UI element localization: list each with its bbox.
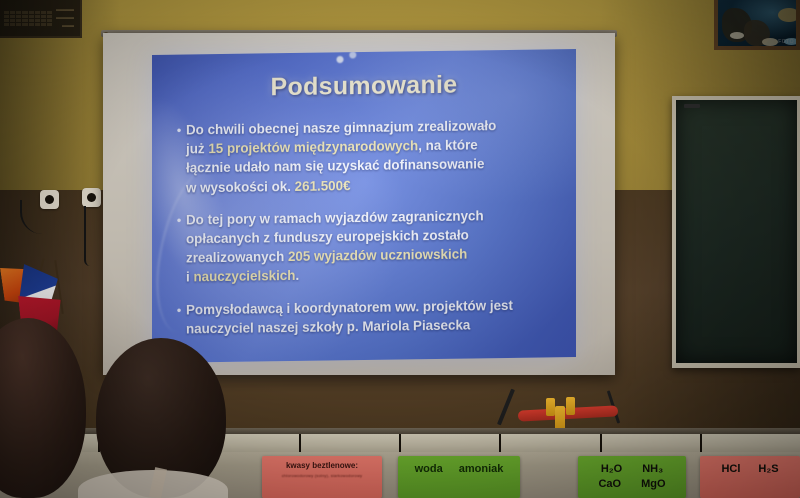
slide-bullet: •Pomysłodawcą i koordynatorem ww. projek… xyxy=(172,295,562,339)
slide-bullet-text: Do chwili obecnej nasze gimnazjum zreali… xyxy=(186,115,562,197)
clamp-knob-1 xyxy=(546,398,555,416)
slide-title: Podsumowanie xyxy=(152,69,576,104)
chalkboard xyxy=(672,96,800,368)
clamp-knob-2 xyxy=(566,397,575,415)
slide-text-highlight: 15 projektów międzynarodowych xyxy=(208,138,418,156)
slide-text: Pomysłodawcą i koordynatorem ww. projekt… xyxy=(186,298,513,318)
chem-poster-title: kwasy beztlenowe: xyxy=(286,461,358,470)
slide-bullet: •Do chwili obecnej nasze gimnazjum zreal… xyxy=(172,115,562,197)
slide-decor-dots xyxy=(328,49,368,68)
bullet-marker-icon: • xyxy=(172,120,186,197)
chem-formula-mgo: MgO xyxy=(641,478,665,490)
bullet-marker-icon: • xyxy=(172,300,186,339)
chem-poster-formulas-green: H₂O NH₃ CaO MgO xyxy=(578,456,686,498)
slide-bullet-list: •Do chwili obecnej nasze gimnazjum zreal… xyxy=(172,115,562,351)
chem-poster-water-ammonia: woda amoniak xyxy=(398,456,520,498)
slide-text: łącznie udało nam się uzyskać dofinansow… xyxy=(186,157,484,176)
wall-socket-left xyxy=(40,190,59,209)
chalkboard-clip xyxy=(684,104,700,108)
chem-poster-acids: kwasy beztlenowe: chlorowodorowy (solny)… xyxy=(262,456,382,498)
slide-text-highlight: nauczycielskich xyxy=(193,268,295,284)
slide-text: Do chwili obecnej nasze gimnazjum zreali… xyxy=(186,118,496,137)
slide-text: w wysokości ok. xyxy=(186,179,295,196)
slide-text: . xyxy=(295,268,299,283)
slide-text-highlight: 261.500€ xyxy=(295,178,351,194)
wall-socket-right xyxy=(82,188,101,207)
slide-bullet-line: nauczyciel naszej szkoły p. Mariola Pias… xyxy=(186,314,562,338)
slide-bullet-text: Pomysłodawcą i koordynatorem ww. projekt… xyxy=(186,295,562,339)
chem-formula-h2s: H₂S xyxy=(758,463,778,475)
presentation-slide: Podsumowanie •Do chwili obecnej nasze gi… xyxy=(152,49,576,363)
power-cable-right xyxy=(84,206,90,266)
slide-bullet-line: i nauczycielskich. xyxy=(186,263,562,287)
chem-poster-subtitle: chlorowodorowy (solny), siarkowodorowy xyxy=(282,473,363,478)
chem-formula-nh3: NH₃ xyxy=(642,463,663,475)
slide-bullet-text: Do tej pory w ramach wyjazdów zagraniczn… xyxy=(186,205,562,287)
stand-rod-left xyxy=(497,389,515,426)
slide-bullet: •Do tej pory w ramach wyjazdów zagranicz… xyxy=(172,205,562,287)
slide-text: Do tej pory w ramach wyjazdów zagraniczn… xyxy=(186,208,484,227)
classroom-photo: ▬▬▬▬▬▬▬▬ FOTO Podsumowanie •Do chwili ob… xyxy=(0,0,800,498)
slide-text: zrealizowanych xyxy=(186,249,288,265)
chem-poster-formulas-pink: HCl H₂S xyxy=(700,456,800,498)
chem-formula-hcl: HCl xyxy=(721,463,740,475)
chem-formula-h2o: H₂O xyxy=(601,463,622,475)
slide-text: nauczyciel naszej szkoły p. Mariola Pias… xyxy=(186,317,470,336)
chem-formula-cao: CaO xyxy=(598,478,621,490)
bullet-marker-icon: • xyxy=(172,210,186,287)
chalkboard-surface xyxy=(676,100,797,363)
chem-cell-amoniak: amoniak xyxy=(459,463,504,475)
chem-cell-woda: woda xyxy=(415,463,443,475)
slide-text-highlight: 205 wyjazdów uczniowskich xyxy=(288,247,467,265)
slide-text: opłacanych z funduszy europejskich zosta… xyxy=(186,228,469,247)
slide-text: już xyxy=(186,141,208,156)
slide-text: , na które xyxy=(418,138,478,154)
